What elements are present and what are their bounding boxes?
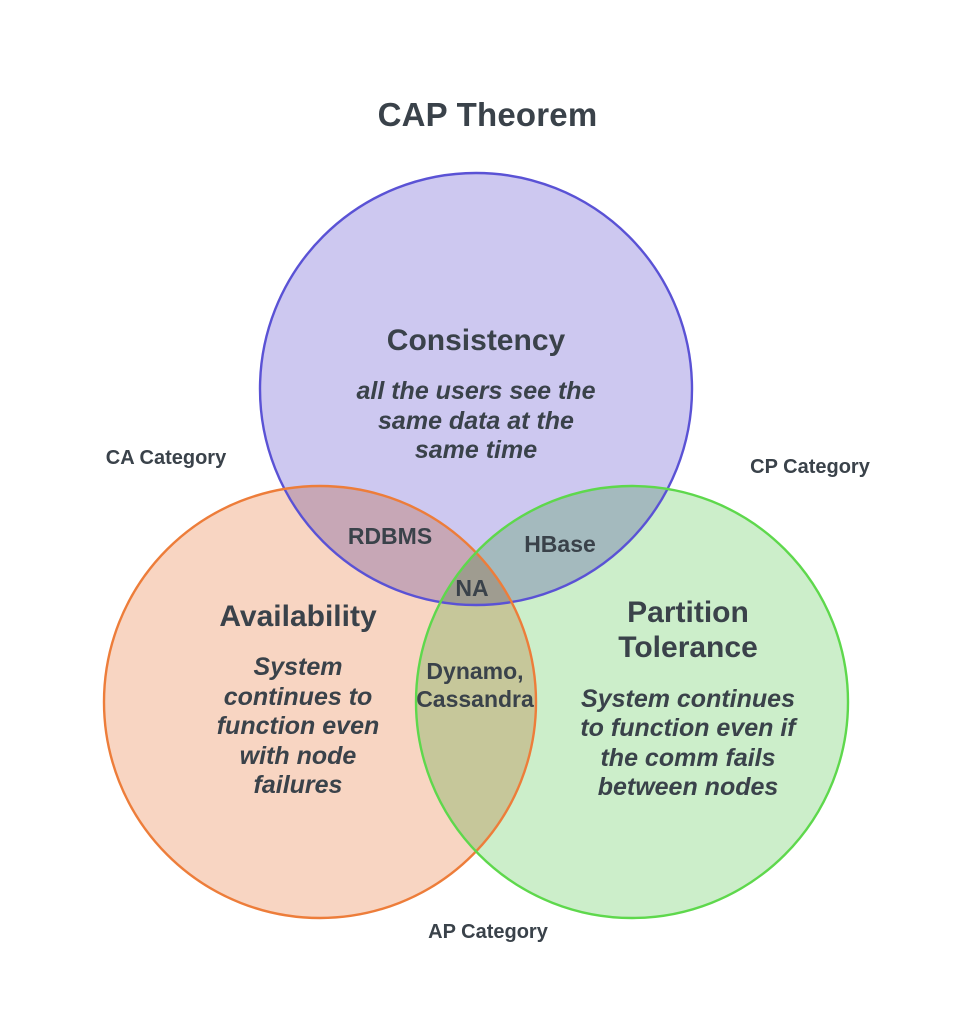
partition-tolerance-label: Partition Tolerance System continues to … bbox=[552, 576, 824, 821]
intersection-label-ap: Dynamo, Cassandra bbox=[404, 658, 546, 713]
cap-theorem-diagram: CAP Theorem Consistency all the users se… bbox=[0, 0, 975, 1028]
availability-description: System continues to function even with n… bbox=[178, 653, 418, 801]
availability-title: Availability bbox=[178, 599, 418, 634]
intersection-label-cp: HBase bbox=[492, 531, 628, 559]
consistency-label: Consistency all the users see the same d… bbox=[316, 304, 636, 485]
intersection-label-cap: NA bbox=[424, 575, 520, 603]
category-label-ap: AP Category bbox=[400, 921, 576, 944]
intersection-label-ca: RDBMS bbox=[318, 523, 462, 551]
consistency-title: Consistency bbox=[316, 323, 636, 358]
category-label-cp: CP Category bbox=[728, 456, 892, 479]
partition-tolerance-title: Partition Tolerance bbox=[552, 595, 824, 666]
availability-label: Availability System continues to functio… bbox=[178, 580, 418, 820]
venn-diagram-svg bbox=[0, 0, 975, 1028]
partition-tolerance-description: System continues to function even if the… bbox=[552, 685, 824, 803]
consistency-description: all the users see the same data at the s… bbox=[316, 377, 636, 466]
category-label-ca: CA Category bbox=[84, 447, 248, 470]
